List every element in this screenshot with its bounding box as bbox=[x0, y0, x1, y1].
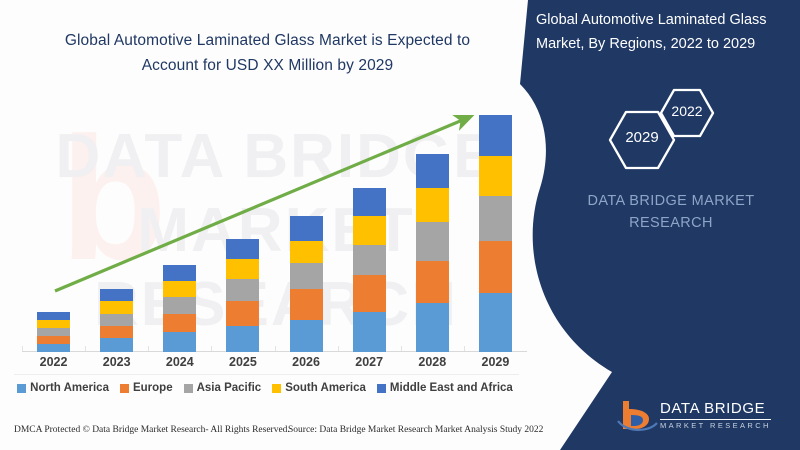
legend-label-north-america: North America bbox=[30, 382, 109, 394]
legend-item-south-america[interactable]: South America bbox=[272, 382, 366, 394]
legend-label-middle-east-and-africa: Middle East and Africa bbox=[390, 382, 513, 394]
data-bridge-logo: DATA BRIDGE MARKET RESEARCH bbox=[616, 398, 786, 438]
panel-title: Global Automotive Laminated Glass Market… bbox=[536, 8, 794, 56]
legend-item-north-america[interactable]: North America bbox=[17, 382, 109, 394]
bar-segment-2024-north-america bbox=[163, 332, 196, 352]
bar-segment-2022-north-america bbox=[37, 344, 70, 352]
legend-label-south-america: South America bbox=[285, 382, 366, 394]
x-axis-label-2028: 2028 bbox=[402, 355, 462, 369]
logo-divider bbox=[660, 419, 771, 420]
legend-swatch-asia-pacific bbox=[184, 384, 193, 393]
x-axis-tick bbox=[464, 346, 465, 351]
bar-segment-2022-asia-pacific bbox=[37, 328, 70, 336]
x-axis-label-2022: 2022 bbox=[24, 355, 84, 369]
legend-item-middle-east-and-africa[interactable]: Middle East and Africa bbox=[377, 382, 513, 394]
bar-segment-2023-europe bbox=[100, 326, 133, 338]
x-axis-tick bbox=[275, 346, 276, 351]
logo-bridge-mark bbox=[616, 399, 658, 433]
x-axis-tick bbox=[401, 346, 402, 351]
x-axis-tick bbox=[85, 346, 86, 351]
legend-swatch-middle-east-and-africa bbox=[377, 384, 386, 393]
x-axis-label-2024: 2024 bbox=[150, 355, 210, 369]
panel-brand-text: DATA BRIDGE MARKET RESEARCH bbox=[556, 190, 786, 234]
x-axis-tick bbox=[22, 346, 23, 351]
footer-bar: DMCA Protected © Data Bridge Market Rese… bbox=[0, 425, 540, 445]
x-axis-label-2023: 2023 bbox=[87, 355, 147, 369]
logo-name: DATA BRIDGE bbox=[660, 400, 765, 417]
legend-item-asia-pacific[interactable]: Asia Pacific bbox=[184, 382, 262, 394]
slide-canvas: Global Automotive Laminated Glass Market… bbox=[0, 0, 800, 450]
chart-headline: Global Automotive Laminated Glass Market… bbox=[40, 28, 495, 78]
x-axis-labels: 20222023202420252026202720282029 bbox=[22, 355, 527, 375]
bar-segment-2022-europe bbox=[37, 336, 70, 344]
x-axis-label-2029: 2029 bbox=[465, 355, 525, 369]
bar-segment-2025-north-america bbox=[226, 326, 259, 352]
legend-swatch-south-america bbox=[272, 384, 281, 393]
chart-legend: North AmericaEuropeAsia PacificSouth Ame… bbox=[0, 382, 530, 394]
x-axis-label-2025: 2025 bbox=[213, 355, 273, 369]
dmca-notice: DMCA Protected © Data Bridge Market Rese… bbox=[14, 425, 290, 435]
hexagon-label-2029: 2029 bbox=[612, 129, 672, 146]
legend-label-asia-pacific: Asia Pacific bbox=[197, 382, 262, 394]
x-axis-label-2026: 2026 bbox=[276, 355, 336, 369]
legend-divider bbox=[14, 374, 519, 375]
legend-swatch-north-america bbox=[17, 384, 26, 393]
hexagon-label-2022: 2022 bbox=[662, 103, 712, 119]
hexagon-group: 2029 2022 bbox=[580, 82, 780, 192]
legend-item-europe[interactable]: Europe bbox=[120, 382, 173, 394]
source-note: Source: Data Bridge Market Research Mark… bbox=[288, 425, 543, 435]
x-axis-tick bbox=[148, 346, 149, 351]
x-axis-tick bbox=[211, 346, 212, 351]
x-axis-tick bbox=[338, 346, 339, 351]
growth-trend-arrow bbox=[22, 95, 527, 325]
legend-label-europe: Europe bbox=[133, 382, 173, 394]
logo-tagline: MARKET RESEARCH bbox=[660, 421, 771, 430]
legend-swatch-europe bbox=[120, 384, 129, 393]
bar-segment-2023-north-america bbox=[100, 338, 133, 352]
x-axis-label-2027: 2027 bbox=[339, 355, 399, 369]
